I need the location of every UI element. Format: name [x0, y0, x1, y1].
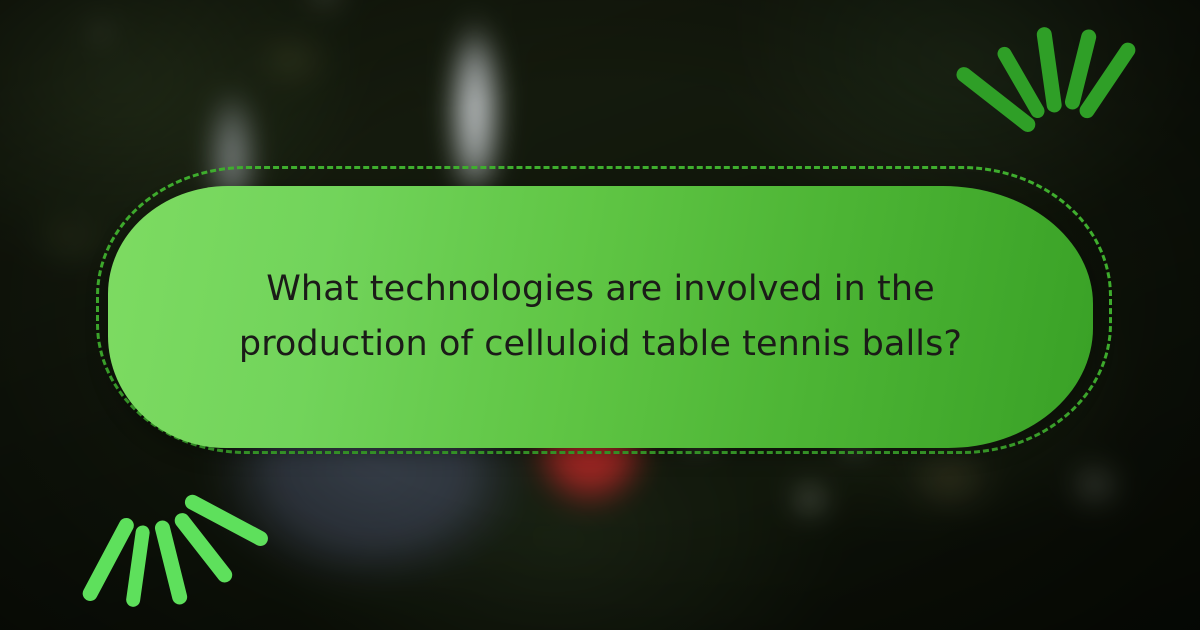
question-text: What technologies are involved in the pr… — [221, 262, 981, 373]
question-card-graphic: What technologies are involved in the pr… — [0, 0, 1200, 630]
question-card: What technologies are involved in the pr… — [108, 186, 1093, 448]
